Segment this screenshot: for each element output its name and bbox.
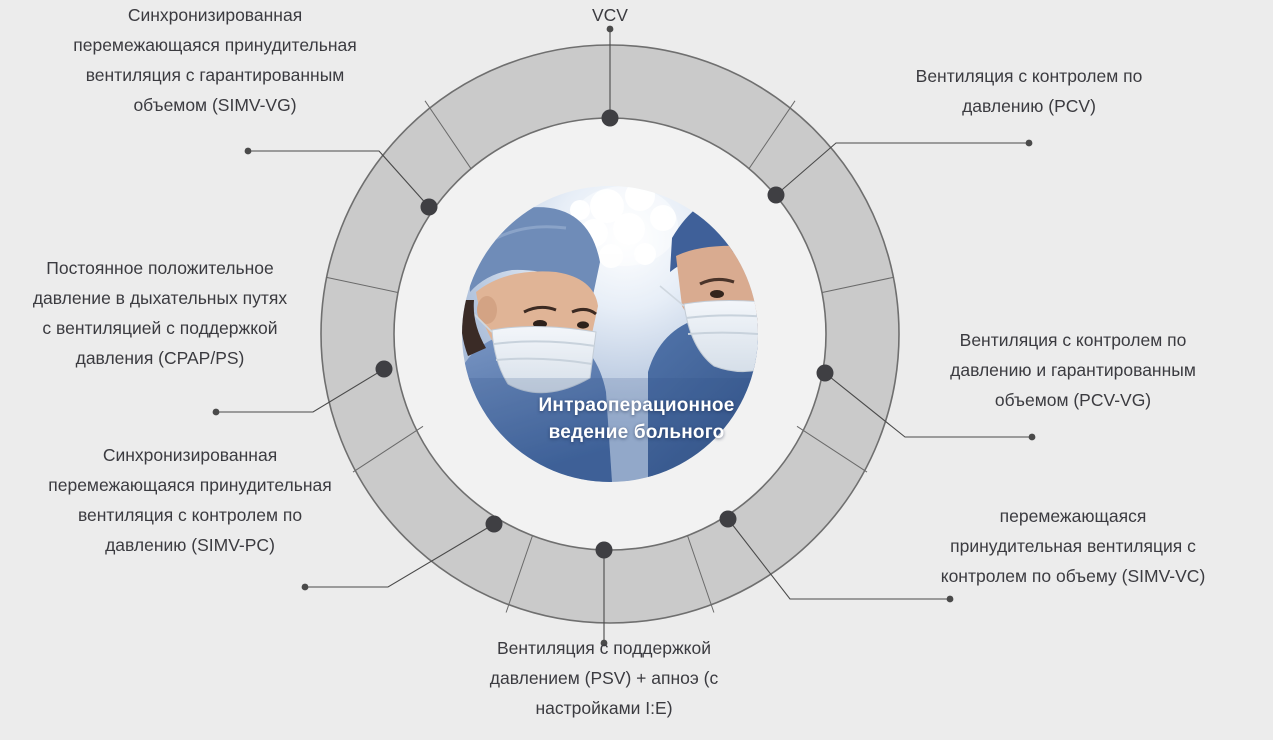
node-dot-cpap-ps xyxy=(376,361,393,378)
label-psv-apnea-line1: Вентиляция с поддержкой xyxy=(404,633,804,663)
node-dot-simv-vg xyxy=(421,199,438,216)
label-simv-vg-line3: вентиляция с гарантированным xyxy=(15,60,415,90)
label-pcv-vg-line2: давлению и гарантированным xyxy=(873,355,1273,385)
label-dot-pcv xyxy=(1026,140,1033,147)
label-dot-simv-pc xyxy=(302,584,309,591)
label-simv-vg-line4: объемом (SIMV-VG) xyxy=(15,90,415,120)
label-simv-vg[interactable]: Синхронизированная перемежающаяся принуд… xyxy=(15,0,415,120)
node-dot-vcv xyxy=(602,110,619,127)
label-simv-pc-line4: давлению (SIMV-PC) xyxy=(0,530,380,560)
label-simv-pc[interactable]: Синхронизированная перемежающаяся принуд… xyxy=(0,440,380,560)
label-pcv-vg[interactable]: Вентиляция с контролем по давлению и гар… xyxy=(873,325,1273,415)
label-vcv[interactable]: VCV xyxy=(560,0,660,30)
label-cpap-ps[interactable]: Постоянное положительное давление в дыха… xyxy=(0,253,330,373)
node-dot-psv-apnea xyxy=(596,542,613,559)
label-simv-vg-line2: перемежающаяся принудительная xyxy=(15,30,415,60)
label-pcv-line2: давлению (PCV) xyxy=(829,91,1229,121)
label-vcv-line1: VCV xyxy=(560,0,660,30)
label-simv-pc-line1: Синхронизированная xyxy=(0,440,380,470)
node-dot-simv-pc xyxy=(486,516,503,533)
label-dot-simv-vg xyxy=(245,148,252,155)
label-dot-simv-vc xyxy=(947,596,954,603)
label-simv-vc-line1: перемежающаяся xyxy=(873,501,1273,531)
label-pcv-vg-line1: Вентиляция с контролем по xyxy=(873,325,1273,355)
label-simv-vc-line2: принудительная вентиляция с xyxy=(873,531,1273,561)
label-psv-apnea[interactable]: Вентиляция с поддержкой давлением (PSV) … xyxy=(404,633,804,723)
infographic-canvas: Интраоперационное ведение больного VCV В… xyxy=(0,0,1273,740)
label-pcv[interactable]: Вентиляция с контролем по давлению (PCV) xyxy=(829,61,1229,121)
node-dot-pcv-vg xyxy=(817,365,834,382)
label-simv-pc-line3: вентиляция с контролем по xyxy=(0,500,380,530)
node-dot-simv-vc xyxy=(720,511,737,528)
label-psv-apnea-line2: давлением (PSV) + апноэ (с xyxy=(404,663,804,693)
label-pcv-vg-line3: объемом (PCV-VG) xyxy=(873,385,1273,415)
label-cpap-ps-line1: Постоянное положительное xyxy=(0,253,330,283)
label-simv-vc[interactable]: перемежающаяся принудительная вентиляция… xyxy=(873,501,1273,591)
label-cpap-ps-line4: давления (CPAP/PS) xyxy=(0,343,330,373)
label-psv-apnea-line3: настройками I:E) xyxy=(404,693,804,723)
label-cpap-ps-line3: с вентиляцией с поддержкой xyxy=(0,313,330,343)
label-pcv-line1: Вентиляция с контролем по xyxy=(829,61,1229,91)
node-dot-pcv xyxy=(768,187,785,204)
label-simv-pc-line2: перемежающаяся принудительная xyxy=(0,470,380,500)
label-simv-vc-line3: контролем по объему (SIMV-VC) xyxy=(873,561,1273,591)
label-cpap-ps-line2: давление в дыхательных путях xyxy=(0,283,330,313)
label-simv-vg-line1: Синхронизированная xyxy=(15,0,415,30)
